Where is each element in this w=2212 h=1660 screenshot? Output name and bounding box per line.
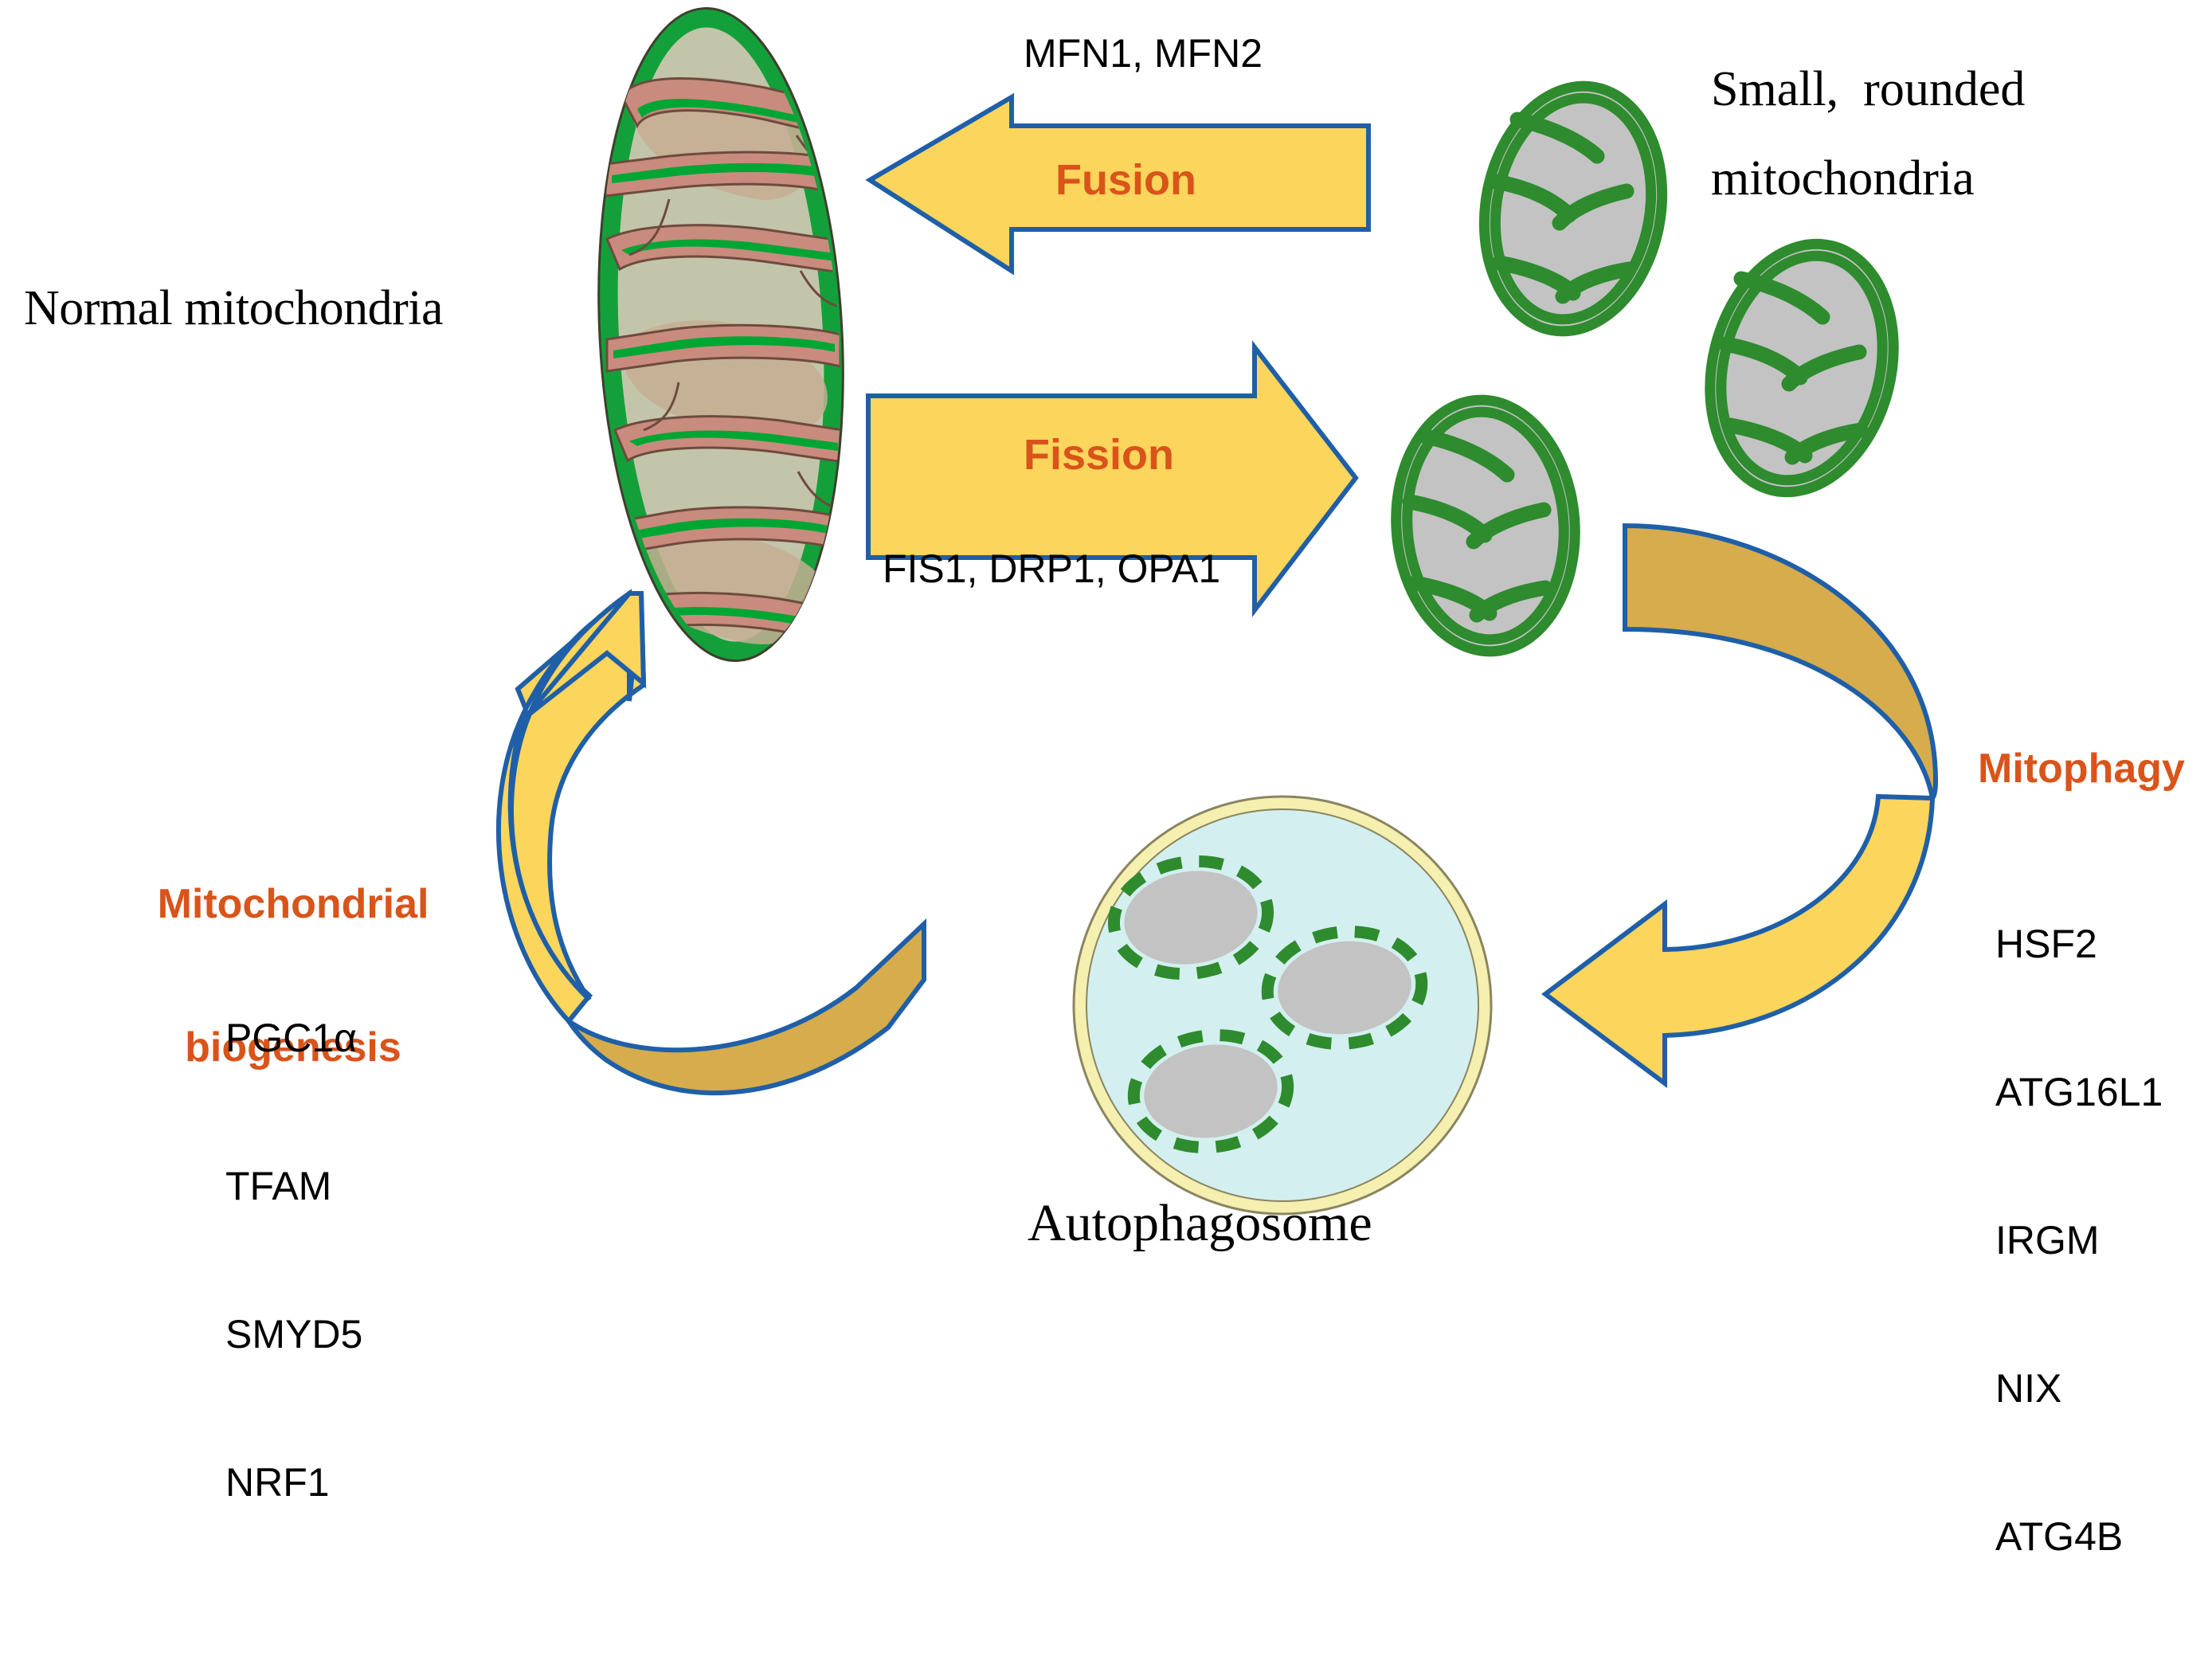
fusion-genes-label: MFN1, MFN2	[1024, 30, 1263, 76]
gene-item: TFAM	[225, 1161, 362, 1211]
diagram-canvas: Normal mitochondria Small, rounded mitoc…	[0, 0, 2212, 1284]
small-mitochondrion-3	[1388, 394, 1583, 658]
fusion-arrow-label: Fusion	[1055, 155, 1196, 205]
mitophagy-arrow-lower-band	[1545, 797, 1932, 1083]
gene-item: IRGM	[1995, 1216, 2163, 1265]
mitophagy-heading: Mitophagy	[1978, 745, 2185, 793]
biogenesis-arrow-lower-band	[569, 924, 924, 1093]
autophagosome	[1074, 797, 1491, 1214]
mitophagy-arrow-upper-band	[1625, 526, 1936, 798]
mitophagy-gene-list: HSF2 ATG16L1 IRGM NIX ATG4B	[1995, 820, 2163, 1660]
large-mitochondrion	[583, 2, 859, 668]
small-rounded-label-line1: Small, rounded	[1711, 45, 2025, 134]
normal-mitochondria-label: Normal mitochondria	[24, 280, 443, 337]
gene-item: ATG4B	[1995, 1512, 2163, 1561]
gene-item: HSF2	[1995, 919, 2163, 969]
gene-item: NRF1	[225, 1458, 362, 1507]
biogenesis-arrow[interactable]	[499, 593, 924, 1093]
fission-genes-label: FIS1, DRP1, OPA1	[883, 546, 1220, 592]
mitophagy-arrow[interactable]	[1545, 526, 1936, 1083]
gene-item: ATG16L1	[1995, 1067, 2163, 1117]
fission-arrow-label: Fission	[1024, 430, 1174, 480]
gene-item: NIX	[1995, 1364, 2163, 1413]
biogenesis-gene-list: PGC1α TFAM SMYD5 NRF1	[225, 914, 362, 1606]
gene-item: SMYD5	[225, 1310, 362, 1359]
small-mitochondrion-1	[1466, 72, 1681, 345]
gene-item: PGC1α	[225, 1013, 362, 1063]
small-mitochondrion-2	[1685, 225, 1919, 512]
autophagosome-label: Autophagosome	[1028, 1193, 1372, 1254]
small-rounded-label-line2: mitochondria	[1711, 134, 1975, 223]
